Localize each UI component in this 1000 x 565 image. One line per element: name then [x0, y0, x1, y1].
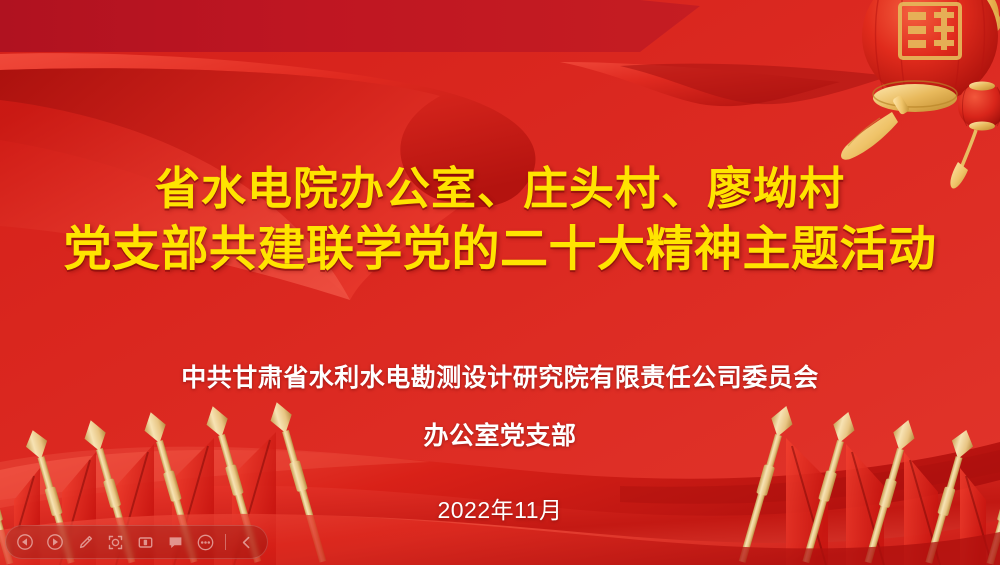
triangle-left-icon [17, 534, 33, 550]
previous-slide-button[interactable] [12, 529, 38, 555]
slide-date: 2022年11月 [437, 491, 562, 525]
title-line-1: 省水电院办公室、庄头村、廖坳村 [0, 163, 1000, 216]
more-options-button[interactable] [192, 529, 218, 555]
focus-frame-icon [107, 534, 124, 551]
presentation-toolbar[interactable] [5, 525, 268, 559]
chevron-left-icon [238, 534, 255, 551]
title-line-2: 党支部共建联学党的二十大精神主题活动 [0, 222, 1000, 278]
ellipsis-icon [197, 534, 214, 551]
slide-subtitle: 中共甘肃省水利水电勘测设计研究院有限责任公司委员会 办公室党支部 [0, 366, 1000, 449]
toolbar-separator [225, 534, 226, 550]
pen-icon [77, 534, 94, 551]
triangle-right-icon [47, 534, 63, 550]
subtitle-line-1: 中共甘肃省水利水电勘测设计研究院有限责任公司委员会 [0, 366, 1000, 391]
slide-text-content: 省水电院办公室、庄头村、廖坳村 党支部共建联学党的二十大精神主题活动 中共甘肃省… [0, 0, 1000, 565]
collapse-toolbar-button[interactable] [233, 529, 259, 555]
presenter-view-button[interactable] [132, 529, 158, 555]
next-slide-button[interactable] [42, 529, 68, 555]
slide-title: 省水电院办公室、庄头村、廖坳村 党支部共建联学党的二十大精神主题活动 [0, 163, 1000, 278]
screen-icon [137, 534, 154, 551]
subtitle-line-2: 办公室党支部 [0, 424, 1000, 449]
comment-button[interactable] [162, 529, 188, 555]
laser-pointer-button[interactable] [102, 529, 128, 555]
presentation-slide: 省水电院办公室、庄头村、廖坳村 党支部共建联学党的二十大精神主题活动 中共甘肃省… [0, 0, 1000, 565]
pen-annotate-button[interactable] [72, 529, 98, 555]
comment-icon [167, 534, 184, 551]
